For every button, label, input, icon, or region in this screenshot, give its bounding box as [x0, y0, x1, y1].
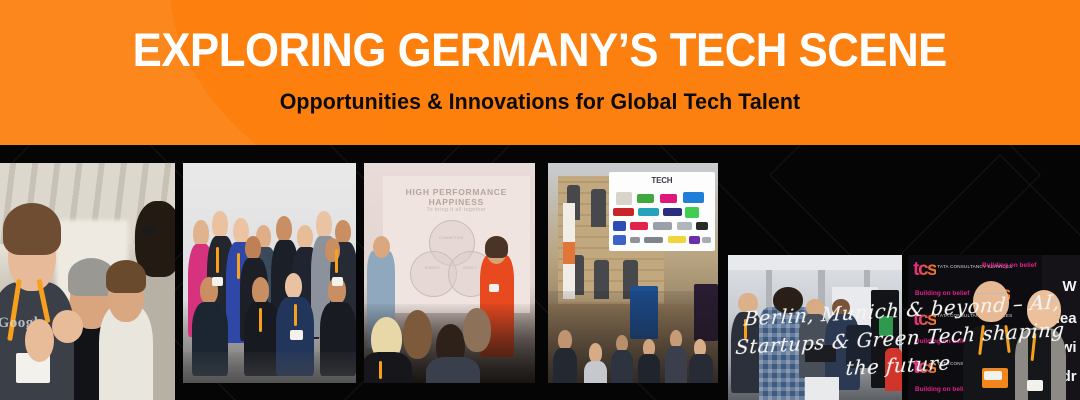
photo-3-circle-label-1: CONNECTION	[429, 236, 473, 241]
header-band: EXPLORING GERMANY’S TECH SCENE Opportuni…	[0, 0, 1080, 145]
photo-4-sponsor-banner-title: TECH	[609, 176, 714, 185]
banner-root: EXPLORING GERMANY’S TECH SCENE Opportuni…	[0, 0, 1080, 400]
photo-6-panel-line-1: W	[1062, 278, 1076, 295]
photo-6-tagline-2: Building on belief	[915, 338, 970, 345]
photo-6-tagline-4: Building on belief	[982, 262, 1037, 269]
banner-subtitle: Opportunities & Innovations for Global T…	[280, 73, 801, 114]
photo-2	[183, 163, 356, 383]
photo-strip: Google	[0, 145, 1080, 400]
photo-1: Google	[0, 163, 175, 400]
photo-6-tcs-logo-3: tcs	[913, 357, 936, 379]
photo-6-tcs-logo-2: tcs	[913, 309, 936, 331]
header-text-block: EXPLORING GERMANY’S TECH SCENE Opportuni…	[0, 0, 1080, 145]
photo-5	[728, 255, 902, 400]
photo-3-slide-subtitle: To bring it all together	[383, 207, 530, 213]
banner-title: EXPLORING GERMANY’S TECH SCENE	[133, 0, 947, 73]
photo-6-tcs-logo-1: tcs	[913, 259, 936, 281]
photo-4: TECH	[548, 163, 718, 383]
photo-6-tagline-3: Building on belief	[915, 386, 970, 393]
photo-3-slide-title: HIGH PERFORMANCE HAPPINESS	[383, 187, 530, 207]
photo-6: tcs TATA CONSULTANCY SERVICES tcs TATA C…	[908, 255, 1080, 400]
photo-3: HIGH PERFORMANCE HAPPINESS To bring it a…	[364, 163, 535, 383]
photo-6-tagline-1: Building on belief	[915, 290, 970, 297]
